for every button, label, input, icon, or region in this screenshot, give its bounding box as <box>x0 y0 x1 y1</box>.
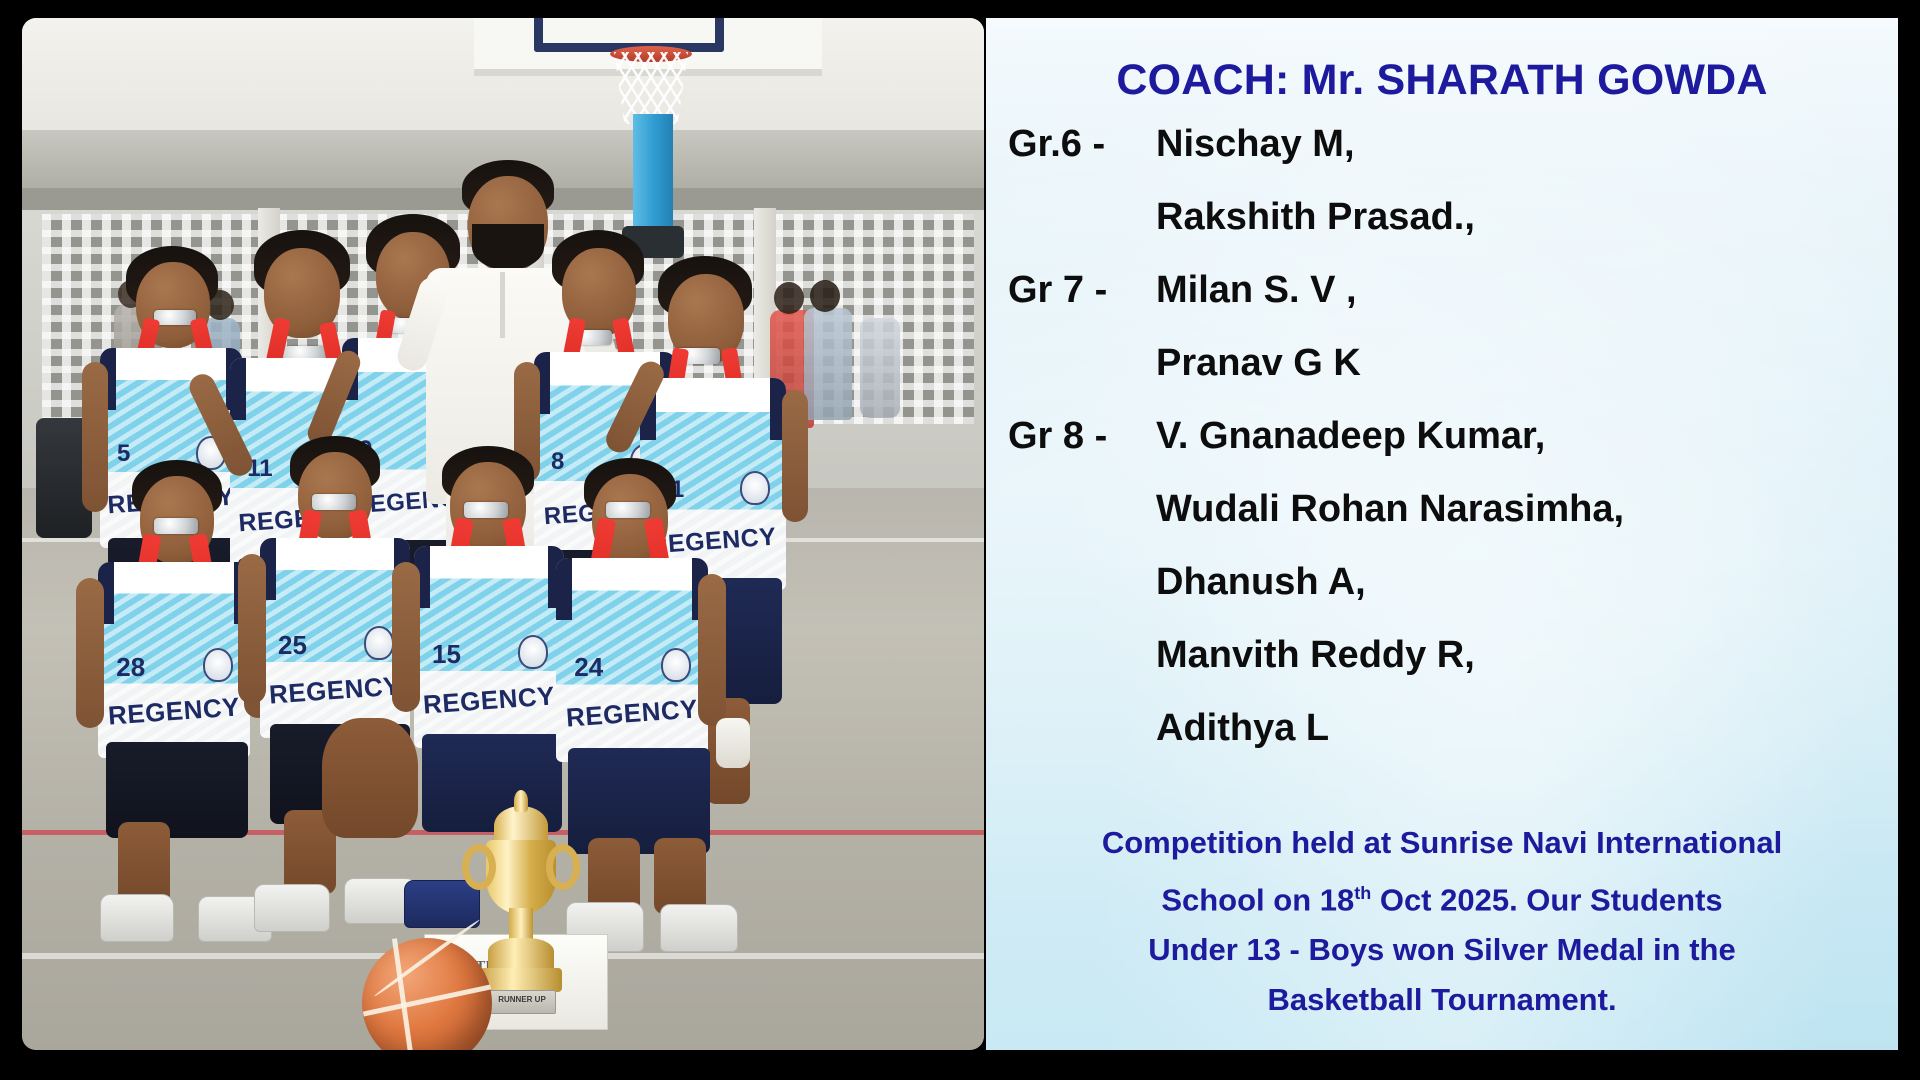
silver-medal <box>606 502 650 518</box>
team-crest <box>518 635 548 669</box>
roster-player-name: Milan S. V , <box>1156 269 1357 312</box>
player-shoe <box>254 884 330 932</box>
spectator-head <box>774 282 804 314</box>
event-caption: Competition held at Sunrise Navi Interna… <box>1014 818 1870 1025</box>
slide-root: 5 REGENCY 11 REGENCY 9 <box>0 0 1920 1080</box>
roster-row: Wudali Rohan Narasimha, <box>1008 488 1888 561</box>
player-arm <box>392 562 420 712</box>
jersey-number: 15 <box>432 639 461 670</box>
jersey-number: 28 <box>116 652 145 683</box>
roster-row: Rakshith Prasad., <box>1008 196 1888 269</box>
caption-line-3: Under 13 - Boys won Silver Medal in the <box>1148 932 1735 967</box>
player-arm <box>782 390 808 522</box>
trophy-handle <box>546 844 580 890</box>
jersey-number: 24 <box>574 652 603 683</box>
roster-grade-label: Gr.6 - <box>1008 123 1156 166</box>
player-jersey: 25 REGENCY <box>260 538 410 738</box>
trophy-stem <box>509 908 533 942</box>
team-crest <box>364 626 394 660</box>
player-arm <box>76 578 104 728</box>
roster-row: Adithya L <box>1008 707 1888 780</box>
coach-beard <box>472 224 544 270</box>
plaque-label: RUNNER UP <box>489 995 555 1004</box>
player-shoe <box>100 894 174 942</box>
player-roster: Gr.6 - Nischay M, Rakshith Prasad., Gr 7… <box>1008 123 1888 780</box>
jersey-wordmark: REGENCY <box>268 670 402 710</box>
trophy-handle <box>462 844 496 890</box>
player-arm <box>698 574 726 726</box>
spectator <box>860 318 900 418</box>
caption-line-4: Basketball Tournament. <box>1267 982 1616 1017</box>
team-photo: 5 REGENCY 11 REGENCY 9 <box>22 18 984 1050</box>
player-jersey: 24 REGENCY <box>556 558 708 762</box>
roster-player-name: Adithya L <box>1156 707 1329 750</box>
player-leg <box>654 838 706 914</box>
jersey-strap <box>556 558 572 620</box>
roster-row: Pranav G K <box>1008 342 1888 415</box>
trophy-cup <box>486 840 556 914</box>
team-crest <box>740 471 770 505</box>
player-arm <box>238 554 266 704</box>
roster-player-name: Manvith Reddy R, <box>1156 634 1475 677</box>
jersey-wordmark: REGENCY <box>422 680 556 720</box>
held-object <box>716 718 750 768</box>
caption-line-1: Competition held at Sunrise Navi Interna… <box>1102 825 1782 860</box>
info-panel: COACH: Mr. SHARATH GOWDA Gr.6 - Nischay … <box>986 18 1898 1050</box>
silver-medal <box>464 502 508 518</box>
spectator <box>804 308 852 420</box>
roster-row: Dhanush A, <box>1008 561 1888 634</box>
player-jersey: 28 REGENCY <box>98 562 250 758</box>
jersey-wordmark: REGENCY <box>565 694 699 734</box>
roster-row: Manvith Reddy R, <box>1008 634 1888 707</box>
trophy-bowl <box>488 938 554 972</box>
roster-player-name: Pranav G K <box>1156 342 1361 385</box>
player-arm <box>82 362 108 512</box>
roster-grade-label: Gr 7 - <box>1008 269 1156 312</box>
jersey-strap <box>230 358 246 420</box>
jersey-number: 5 <box>117 440 130 468</box>
shirt-placket <box>500 272 505 338</box>
coach-title: COACH: Mr. SHARATH GOWDA <box>986 56 1898 105</box>
trophy-finial <box>514 790 528 812</box>
silver-medal <box>154 518 198 534</box>
caption-line-2b: Oct 2025. Our Students <box>1371 882 1722 917</box>
roster-row: Gr 8 - V. Gnanadeep Kumar, <box>1008 415 1888 488</box>
roster-player-name: Wudali Rohan Narasimha, <box>1156 488 1624 531</box>
player-shoe <box>404 880 480 928</box>
spectator-head <box>810 280 840 312</box>
player-jersey: 15 REGENCY <box>414 546 564 748</box>
roster-row: Gr 7 - Milan S. V , <box>1008 269 1888 342</box>
roster-player-name: Dhanush A, <box>1156 561 1366 604</box>
roster-row: Gr.6 - Nischay M, <box>1008 123 1888 196</box>
caption-line-2a: School on 18 <box>1161 882 1354 917</box>
jersey-number: 25 <box>278 630 307 661</box>
ball-seam <box>392 938 415 1050</box>
team-crest <box>661 648 691 682</box>
hoop-pole <box>633 114 673 239</box>
player-shoe <box>660 904 738 952</box>
trophy-plaque: RUNNER UP <box>488 990 556 1014</box>
trophy-base <box>480 968 562 992</box>
caption-ordinal-suffix: th <box>1354 883 1371 903</box>
jersey-number: 8 <box>551 448 564 476</box>
silver-medal <box>312 494 356 510</box>
player-knee <box>322 718 418 838</box>
roster-player-name: V. Gnanadeep Kumar, <box>1156 415 1545 458</box>
roster-player-name: Rakshith Prasad., <box>1156 196 1475 239</box>
roster-grade-label: Gr 8 - <box>1008 415 1156 458</box>
roster-player-name: Nischay M, <box>1156 123 1355 166</box>
jersey-wordmark: REGENCY <box>107 691 241 731</box>
team-crest <box>203 648 233 682</box>
